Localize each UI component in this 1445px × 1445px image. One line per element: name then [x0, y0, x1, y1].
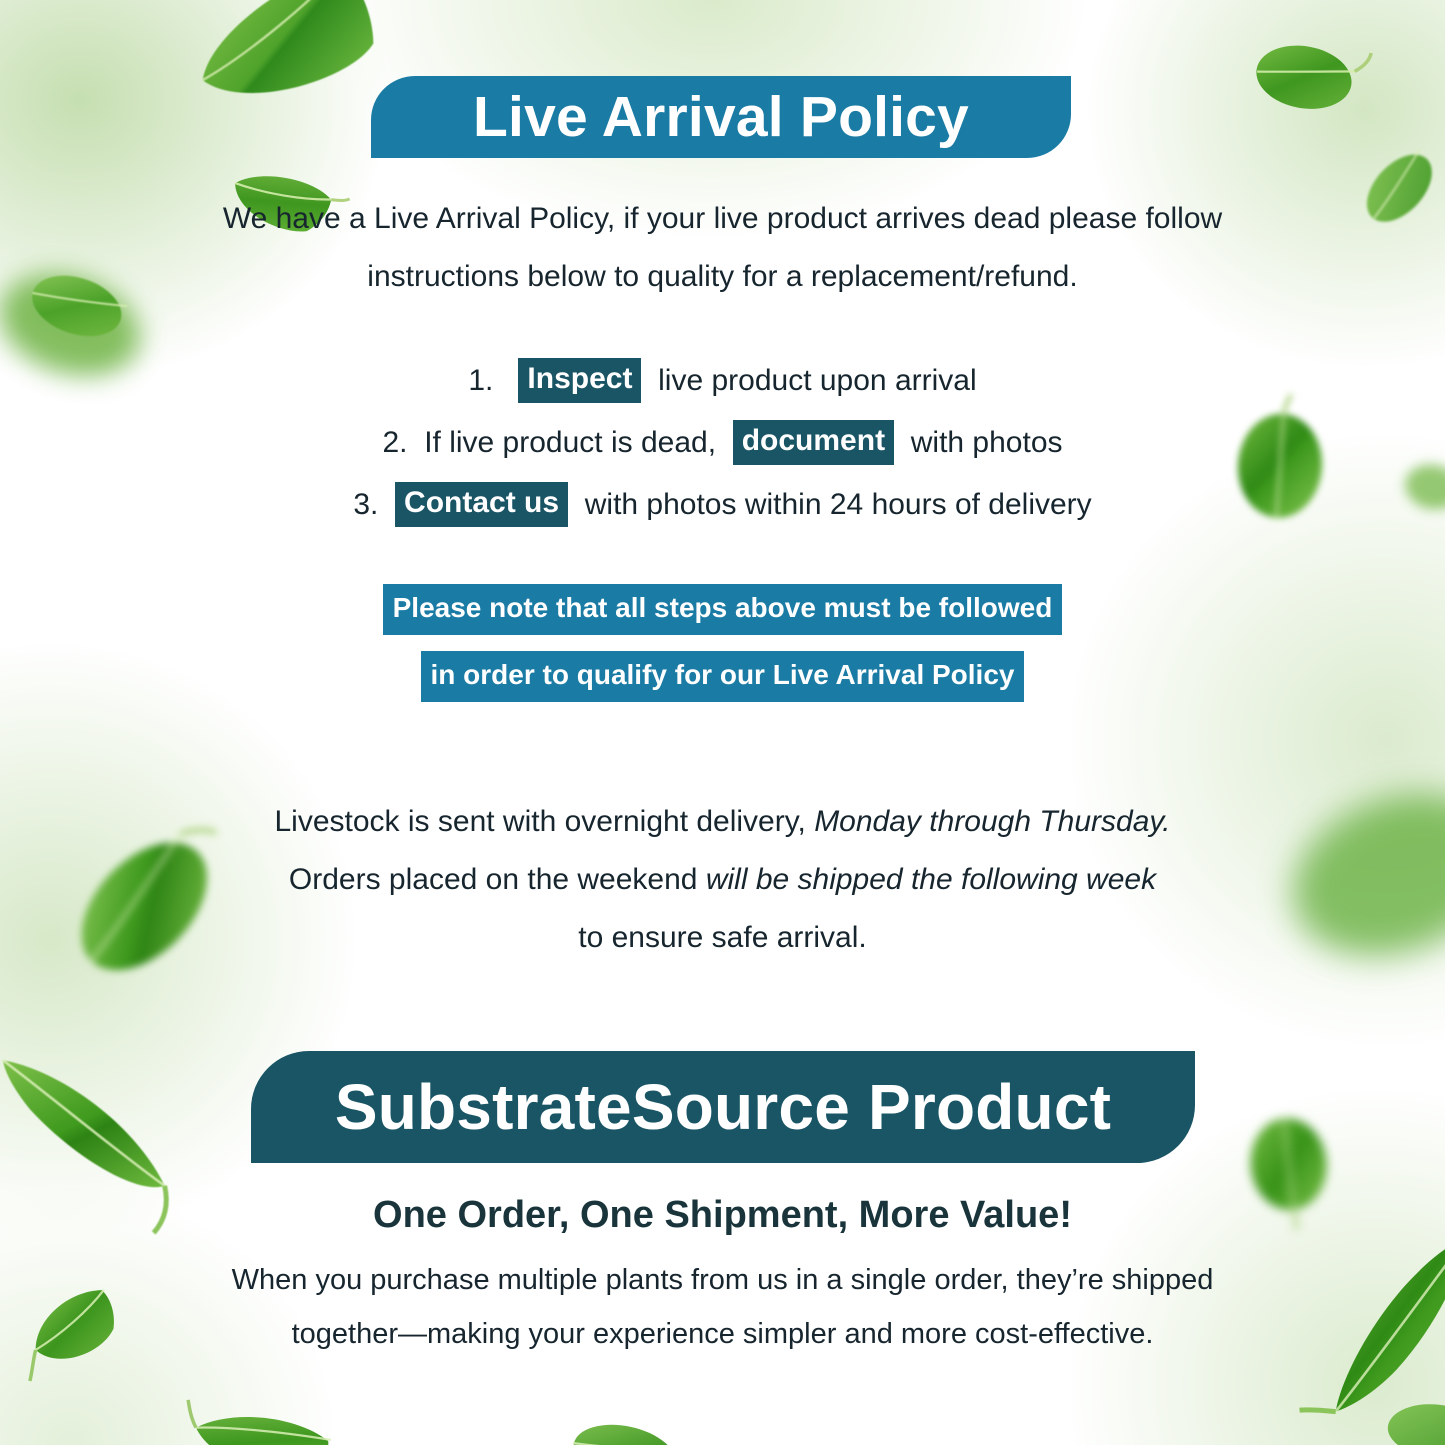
shipping-line-2-italic: will be shipped the following week	[706, 863, 1156, 896]
product-banner-title: SubstrateSource Product	[335, 1075, 1111, 1139]
value-line-1: When you purchase multiple plants from u…	[0, 1253, 1445, 1307]
product-banner: SubstrateSource Product	[251, 1051, 1195, 1163]
step-highlight-inspect: Inspect	[518, 358, 641, 403]
step-highlight-contact-us[interactable]: Contact us	[395, 482, 568, 527]
step-number: 3.	[353, 488, 378, 521]
page-content: Live Arrival Policy We have a Live Arriv…	[0, 0, 1445, 1445]
note-line-1-wrap: Please note that all steps above must be…	[0, 584, 1445, 639]
step-text: with photos within 24 hours of delivery	[585, 488, 1092, 521]
shipping-line-1-plain: Livestock is sent with overnight deliver…	[275, 805, 806, 838]
value-heading: One Order, One Shipment, More Value!	[0, 1192, 1445, 1238]
shipping-line-1: Livestock is sent with overnight deliver…	[0, 793, 1445, 851]
shipping-paragraph: Livestock is sent with overnight deliver…	[0, 793, 1445, 967]
note-line-2: in order to qualify for our Live Arrival…	[421, 651, 1025, 702]
note-line-2-wrap: in order to qualify for our Live Arrival…	[0, 651, 1445, 706]
note-line-1: Please note that all steps above must be…	[383, 584, 1063, 635]
shipping-line-2-plain: Orders placed on the weekend	[289, 863, 698, 896]
value-line-2: together—making your experience simpler …	[0, 1307, 1445, 1361]
step-prefix: If live product is dead,	[424, 426, 716, 459]
intro-line-1: We have a Live Arrival Policy, if your l…	[0, 190, 1445, 248]
page-title: Live Arrival Policy	[473, 89, 969, 146]
value-paragraph: When you purchase multiple plants from u…	[0, 1253, 1445, 1361]
live-arrival-policy-page: Live Arrival Policy We have a Live Arriv…	[0, 0, 1445, 1445]
step-text: live product upon arrival	[658, 364, 977, 397]
step-highlight-document: document	[733, 420, 894, 465]
step-text: with photos	[911, 426, 1063, 459]
policy-step-2: 2. If live product is dead, document wit…	[0, 412, 1445, 474]
policy-step-1: 1. Inspect live product upon arrival	[0, 350, 1445, 412]
policy-steps-list: 1. Inspect live product upon arrival 2. …	[0, 350, 1445, 536]
shipping-line-3: to ensure safe arrival.	[0, 909, 1445, 967]
step-number: 1.	[468, 364, 493, 397]
shipping-line-2: Orders placed on the weekend will be shi…	[0, 851, 1445, 909]
policy-step-3: 3. Contact us with photos within 24 hour…	[0, 474, 1445, 536]
intro-line-2: instructions below to quality for a repl…	[0, 248, 1445, 306]
step-number: 2.	[382, 426, 407, 459]
intro-paragraph: We have a Live Arrival Policy, if your l…	[0, 190, 1445, 306]
shipping-line-1-italic: Monday through Thursday.	[814, 805, 1170, 838]
page-title-banner: Live Arrival Policy	[371, 76, 1071, 158]
policy-note-block: Please note that all steps above must be…	[0, 584, 1445, 718]
